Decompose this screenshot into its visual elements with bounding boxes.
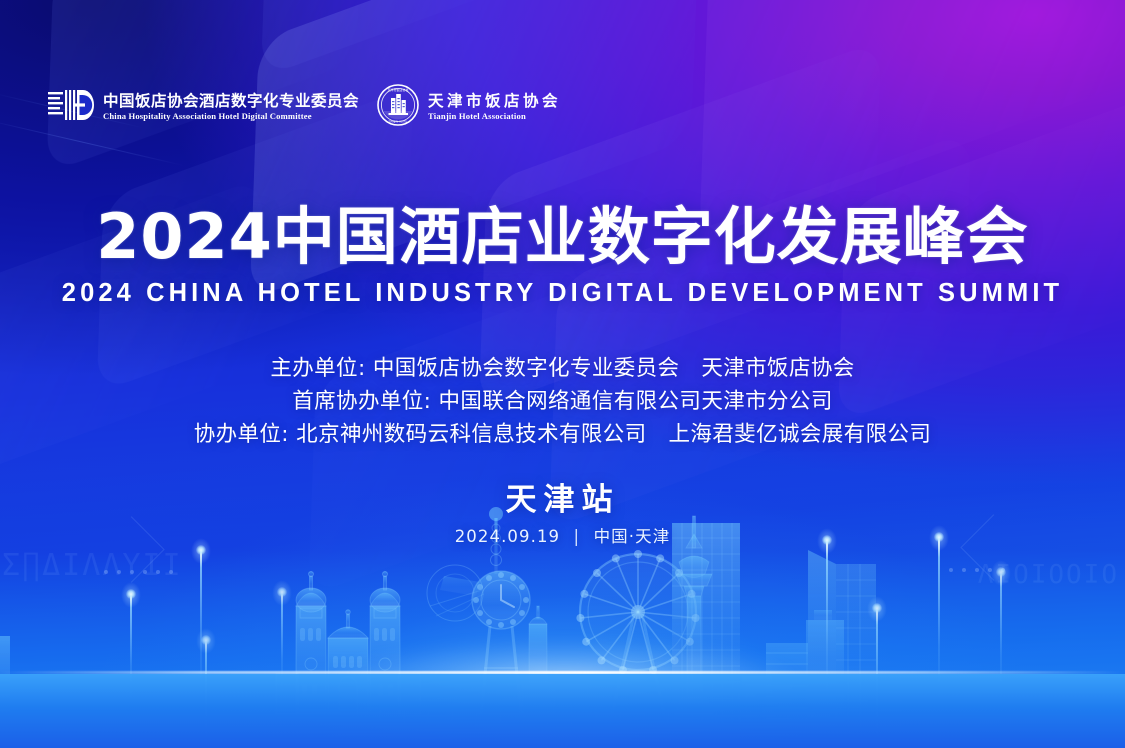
logo-cha-en: China Hospitality Association Hotel Digi… bbox=[103, 112, 359, 121]
event-date: 2024.09.19 bbox=[455, 527, 560, 546]
tianjin-hotel-association-seal-icon: 天津市饭店协会 TIANJIN HOTEL bbox=[377, 84, 419, 131]
logo-tha-en: Tianjin Hotel Association bbox=[428, 112, 561, 121]
organizer-line: 首席协办单位: 中国联合网络通信有限公司天津市分公司 bbox=[0, 385, 1125, 418]
logo-cha-text: 中国饭店协会酒店数字化专业委员会 China Hospitality Assoc… bbox=[103, 94, 359, 121]
station-block: 天津站 2024.09.19 | 中国·天津 bbox=[0, 485, 1125, 546]
organizer-line: 主办单位: 中国饭店协会数字化专业委员会 天津市饭店协会 bbox=[0, 352, 1125, 385]
header-logos: 中国饭店协会酒店数字化专业委员会 China Hospitality Assoc… bbox=[48, 84, 561, 131]
water-foreground bbox=[0, 674, 1125, 748]
main-title-en: 2024 CHINA HOTEL INDUSTRY DIGITAL DEVELO… bbox=[0, 281, 1125, 307]
main-title-cn: 2024中国酒店业数字化发展峰会 bbox=[0, 206, 1125, 268]
organizers-block: 主办单位: 中国饭店协会数字化专业委员会 天津市饭店协会 首席协办单位: 中国联… bbox=[0, 352, 1125, 451]
organizer-line: 协办单位: 北京神州数码云科信息技术有限公司 上海君斐亿诚会展有限公司 bbox=[0, 418, 1125, 451]
svg-text:TIANJIN HOTEL: TIANJIN HOTEL bbox=[389, 119, 409, 123]
conference-poster: Σ∏ΔΙΛΛΥΙΙ ΛΙΟΙΟΟΙΟ bbox=[0, 0, 1125, 748]
station-datebar: 2024.09.19 | 中国·天津 bbox=[0, 529, 1125, 546]
event-location: 中国·天津 bbox=[594, 527, 671, 546]
logo-tha-cn: 天津市饭店协会 bbox=[428, 94, 561, 110]
title-block: 2024中国酒店业数字化发展峰会 2024 CHINA HOTEL INDUST… bbox=[0, 206, 1125, 307]
date-separator: | bbox=[567, 529, 588, 546]
svg-text:天津市饭店协会: 天津市饭店协会 bbox=[388, 87, 409, 92]
logo-cha-digital-committee[interactable]: 中国饭店协会酒店数字化专业委员会 China Hospitality Assoc… bbox=[48, 88, 359, 127]
logo-tha-text: 天津市饭店协会 Tianjin Hotel Association bbox=[428, 94, 561, 121]
logo-tianjin-hotel-association[interactable]: 天津市饭店协会 TIANJIN HOTEL 天津市饭店协会 Tianjin Ho… bbox=[377, 84, 561, 131]
logo-cha-cn: 中国饭店协会酒店数字化专业委员会 bbox=[103, 94, 359, 110]
cha-digital-committee-emblem-icon bbox=[48, 88, 94, 127]
station-name: 天津站 bbox=[0, 485, 1125, 516]
